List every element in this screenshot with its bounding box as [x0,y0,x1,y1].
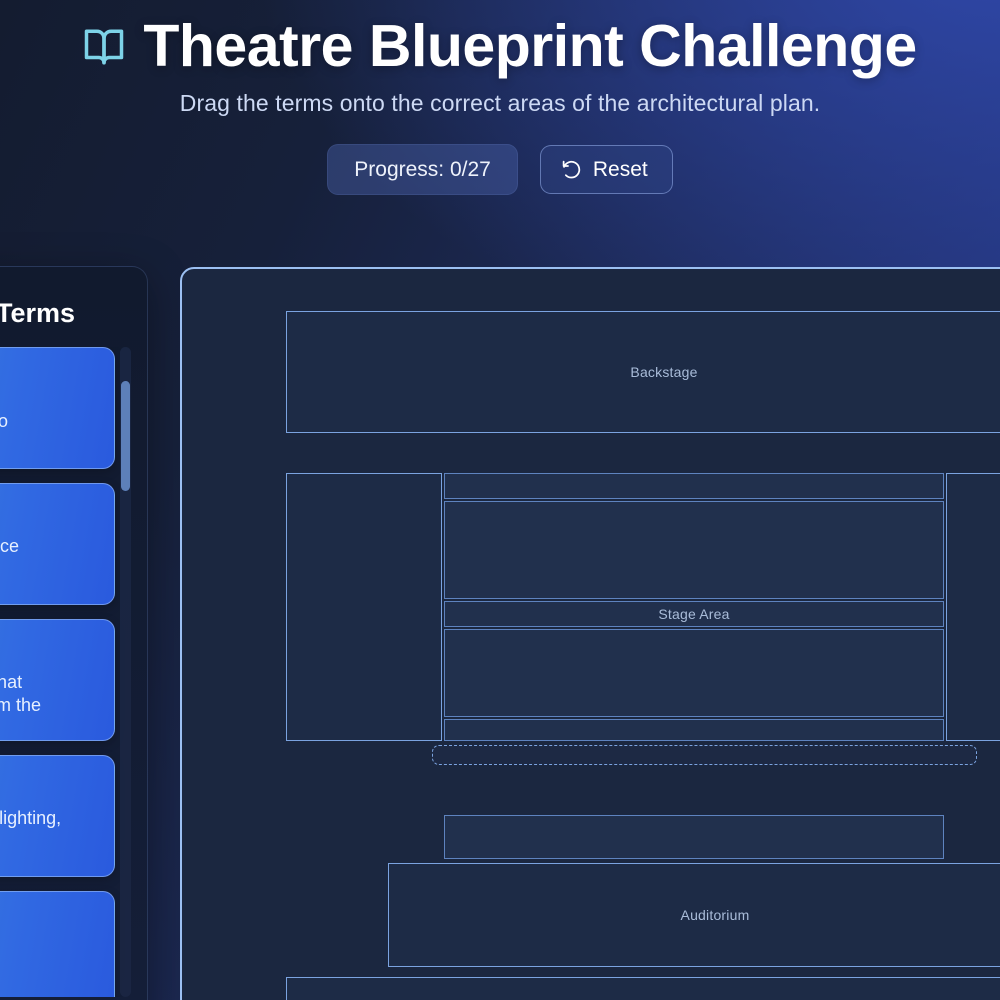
page-title: Theatre Blueprint Challenge [143,16,916,78]
term-card-name: Control [0,778,99,802]
terms-scrollbar-track[interactable] [120,347,131,997]
terms-sidebar: Theatre Terms Upstage ge closest to Fly … [0,266,148,1000]
blueprint-zone-label: Backstage [630,364,697,380]
term-card-desc: The stage thatextends from the [0,671,99,718]
blueprint-zone-stage-area[interactable]: Stage Area [444,601,944,627]
rotate-ccw-icon [561,159,582,180]
app-root: Theatre Blueprint Challenge Drag the ter… [0,0,1000,1000]
terms-scrollbar-thumb[interactable] [121,381,130,491]
blueprint-zone-stage-top-strip[interactable] [444,473,944,499]
blueprint-zone-lower-house[interactable] [286,977,1000,1000]
blueprint-zone-orchestra-pit[interactable] [432,745,977,765]
term-card[interactable]: Fly Tower The tall spacefor flying [0,483,115,605]
term-card-name [0,937,99,961]
term-card[interactable]: Upstage ge closest to [0,347,115,469]
sidebar-title: Theatre Terms [0,299,131,329]
reset-button[interactable]: Reset [540,145,673,194]
blueprint-zone-label: Auditorium [681,907,750,923]
blueprint-zone-label: Stage Area [658,606,729,622]
term-card[interactable]: Control Sound and lighting, often [0,755,115,877]
term-card-name: Apron [0,642,99,666]
progress-indicator: Progress: 0/27 [327,144,518,195]
terms-list[interactable]: Upstage ge closest to Fly Tower The tall… [0,347,131,997]
blueprint-zone-wing-left[interactable] [286,473,442,741]
term-card-name: Fly Tower [0,506,99,530]
term-card[interactable] [0,891,115,997]
blueprint-zone-backstage[interactable]: Backstage [286,311,1000,433]
blueprint-zone-auditorium[interactable]: Auditorium [388,863,1000,967]
blueprint-zone-stage-apron[interactable] [444,719,944,741]
term-card-desc: ge closest to [0,410,99,433]
blueprint-canvas: BackstageStage AreaAuditorium [182,269,1000,1000]
page-subtitle: Drag the terms onto the correct areas of… [0,90,1000,118]
term-card-name: Upstage [0,382,99,406]
page-header: Theatre Blueprint Challenge Drag the ter… [0,0,1000,195]
blueprint-panel: BackstageStage AreaAuditorium [180,267,1000,1000]
blueprint-zone-stage-upper[interactable] [444,501,944,599]
blueprint-zone-stage-lower[interactable] [444,629,944,717]
header-actions: Progress: 0/27 Reset [0,144,1000,195]
title-row: Theatre Blueprint Challenge [0,16,1000,78]
blueprint-zone-wing-right[interactable] [946,473,1000,741]
term-card-desc: Sound and lighting, often [0,807,99,854]
term-card[interactable]: Apron The stage thatextends from the [0,619,115,741]
blueprint-zone-front-row-strip[interactable] [444,815,944,859]
reset-button-label: Reset [593,159,648,180]
open-book-icon [83,26,125,68]
term-card-desc: The tall spacefor flying [0,535,99,582]
